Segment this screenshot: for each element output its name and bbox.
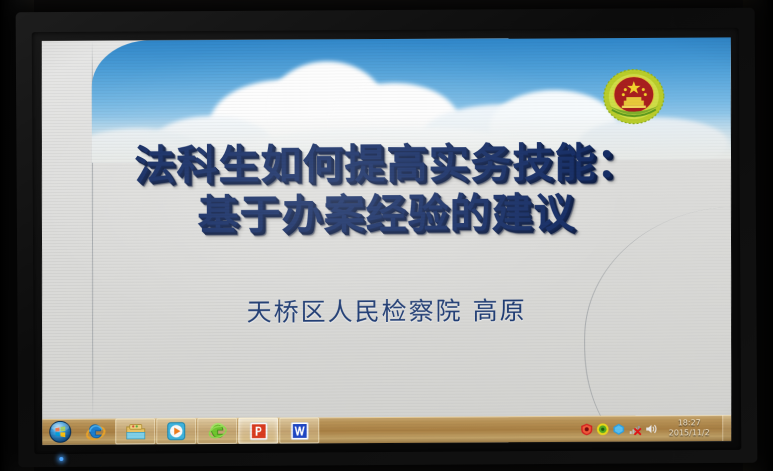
show-desktop-button[interactable] — [722, 415, 731, 441]
taskbar-item-internet-explorer[interactable] — [76, 420, 114, 444]
blue-app-tray-icon[interactable] — [612, 422, 625, 435]
windows-explorer-icon — [125, 422, 146, 441]
clock-time: 18:27 — [678, 418, 701, 428]
screen-surface: 法科生如何提高实务技能： 基于办案经验的建议 天桥区人民检察院 高原 — [42, 37, 731, 445]
start-button[interactable] — [45, 420, 75, 444]
clock-date: 2015/11/2 — [669, 428, 710, 438]
red-shield-tray-icon[interactable] — [580, 422, 593, 435]
taskbar-clock[interactable]: 18:27 2015/11/2 — [660, 415, 718, 441]
title-line-1: 法科生如何提高实务技能： — [42, 141, 731, 188]
power-led-indicator — [59, 457, 63, 461]
wps-presentation-icon — [249, 421, 268, 440]
360-safe-tray-icon[interactable] — [596, 422, 609, 435]
monitor-bezel: 法科生如何提高实务技能： 基于办案经验的建议 天桥区人民检察院 高原 — [32, 28, 742, 454]
title-line-2: 基于办案经验的建议 — [42, 192, 731, 239]
photograph-of-display: 法科生如何提高实务技能： 基于办案经验的建议 天桥区人民检察院 高原 — [0, 0, 773, 471]
monitor-frame: 法科生如何提高实务技能： 基于办案经验的建议 天桥区人民检察院 高原 — [16, 8, 758, 468]
taskbar-pinned-area — [42, 417, 319, 445]
wps-writer-icon — [290, 421, 309, 440]
windows-taskbar[interactable]: 18:27 2015/11/2 — [42, 415, 731, 445]
360-browser-icon — [207, 420, 228, 441]
taskbar-spacer — [319, 429, 580, 430]
volume-icon[interactable] — [644, 422, 657, 435]
slide-title: 法科生如何提高实务技能： 基于办案经验的建议 — [42, 141, 731, 239]
taskbar-item-windows-explorer[interactable] — [115, 418, 155, 444]
system-tray: 18:27 2015/11/2 — [580, 415, 722, 442]
slide-subtitle: 天桥区人民检察院 高原 — [42, 290, 731, 330]
taskbar-item-wps-presentation[interactable] — [238, 418, 278, 444]
media-player-icon — [166, 421, 186, 441]
internet-explorer-icon — [85, 421, 106, 442]
network-disconnected-icon[interactable] — [628, 422, 641, 435]
taskbar-item-wps-writer[interactable] — [279, 417, 319, 443]
procuratorate-emblem — [603, 65, 665, 127]
taskbar-item-media-player[interactable] — [156, 418, 196, 444]
presentation-slide: 法科生如何提高实务技能： 基于办案经验的建议 天桥区人民检察院 高原 — [42, 37, 731, 419]
taskbar-item-360-browser[interactable] — [197, 418, 237, 444]
